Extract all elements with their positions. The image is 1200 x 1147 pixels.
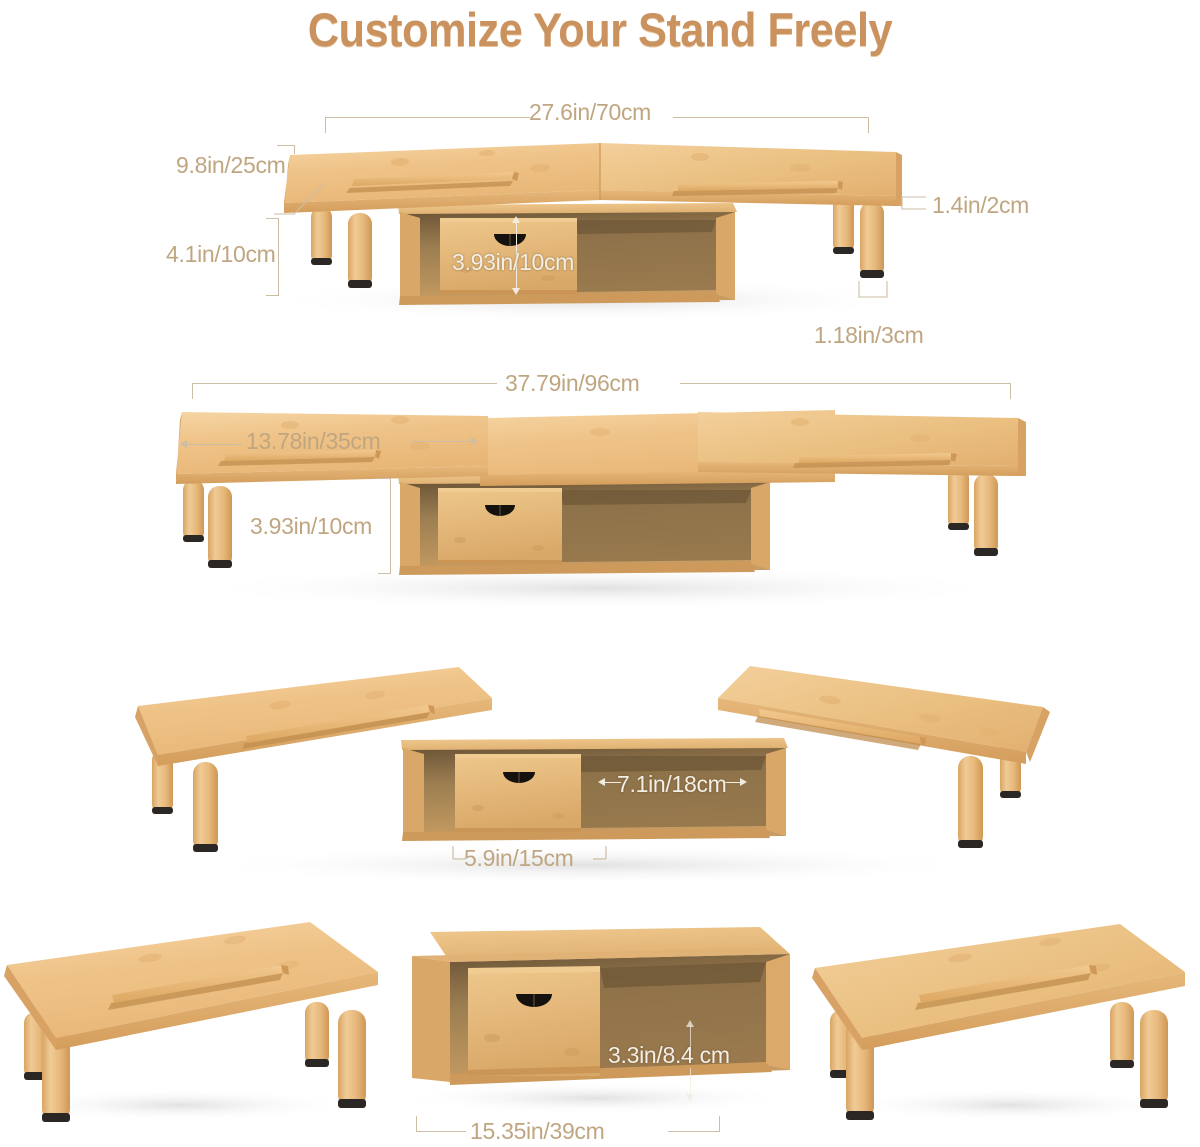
drawer-unit-config3 <box>401 738 788 841</box>
dim-arrow-down-c1 <box>512 288 520 295</box>
dim-drawer-width-c3: 5.9in/15cm <box>464 845 574 872</box>
dim-panel-width-c2: 13.78in/35cm <box>246 428 381 455</box>
config-1-illustration <box>0 0 1200 360</box>
drawer-unit-config2 <box>398 473 772 575</box>
dim-arrow-right-c3 <box>740 778 747 786</box>
dim-line-drawer-h-c2 <box>390 478 391 574</box>
drawer-unit-standalone <box>395 927 795 1114</box>
dim-depth-c1: 9.8in/25cm <box>176 152 286 179</box>
dim-line-panelw-a-c2 <box>186 444 242 445</box>
dim-line-unitw-a-c4 <box>416 1131 466 1132</box>
dim-tick-depth-vert-c1 <box>294 145 295 154</box>
dim-tick-dh-top-c2 <box>378 478 390 479</box>
dim-callout-thickness-c1 <box>900 196 928 212</box>
panel-legs-left <box>311 207 372 288</box>
infographic-page: Customize Your Stand Freely <box>0 0 1200 1147</box>
dim-arrow-up-c1 <box>512 216 520 223</box>
dim-foot-c1: 1.18in/3cm <box>814 322 924 349</box>
dim-arrow-right-c2 <box>471 437 478 445</box>
dim-height-c1: 4.1in/10cm <box>166 241 276 268</box>
dim-total-width-c1: 27.6in/70cm <box>529 99 651 126</box>
dim-tick-left-c1 <box>325 117 326 133</box>
panel-legs-right <box>833 196 884 278</box>
dim-tick-dh-bot-c2 <box>378 573 390 574</box>
dim-tick-right-c2 <box>1010 383 1011 399</box>
dim-unit-width-c4: 15.35in/39cm <box>470 1118 605 1145</box>
dim-leader-depth-c1 <box>272 182 332 216</box>
dim-tick-right-c1 <box>868 117 869 133</box>
right-panel-standalone <box>812 924 1185 1121</box>
config-2-illustration <box>0 370 1200 630</box>
dim-tick-depth-top-c1 <box>277 145 294 146</box>
dim-line-width-left-c1 <box>325 117 530 118</box>
dim-tick-height-bot-c1 <box>266 295 278 296</box>
drawer-front-standalone <box>468 968 600 1076</box>
panel-legs-right-2 <box>948 468 998 556</box>
dim-line-width-right-c2 <box>680 383 1010 384</box>
dim-arrow-down-c4 <box>686 1094 694 1101</box>
dim-tick-unitw-left-c4 <box>416 1116 417 1132</box>
dim-line-width-left-c2 <box>192 383 497 384</box>
dim-tick-unitw-right-c4 <box>719 1116 720 1132</box>
dim-thickness-c1: 1.4in/2cm <box>932 192 1029 219</box>
dim-drawer-height-c1: 3.93in/10cm <box>452 249 574 276</box>
dim-arrow-left-c2 <box>180 440 187 448</box>
dim-line-height-c1 <box>278 218 279 296</box>
dim-line-open-bot-c4 <box>690 1068 691 1096</box>
dim-tick-height-top-c1 <box>266 218 278 219</box>
config-4-illustration <box>0 910 1200 1147</box>
dim-line-unitw-b-c4 <box>668 1131 720 1132</box>
dim-arrow-left-c3 <box>598 778 605 786</box>
dim-line-width-right-c1 <box>673 117 868 118</box>
left-panel-standalone <box>4 922 378 1122</box>
dim-total-width-c2: 37.79in/96cm <box>505 370 640 397</box>
dim-line-panelw-b-c2 <box>412 441 472 442</box>
dim-tick-left-c2 <box>192 383 193 399</box>
dim-drawer-height-c2: 3.93in/10cm <box>250 513 372 540</box>
dim-shelf-opening-height-c4: 3.3in/8.4 cm <box>608 1042 730 1069</box>
dim-shelf-width-c3: 7.1in/18cm <box>617 771 727 798</box>
dim-callout-foot-c1 <box>857 280 889 300</box>
dim-arrow-up-c4 <box>686 1020 694 1027</box>
panel-legs-left-2 <box>183 480 232 568</box>
